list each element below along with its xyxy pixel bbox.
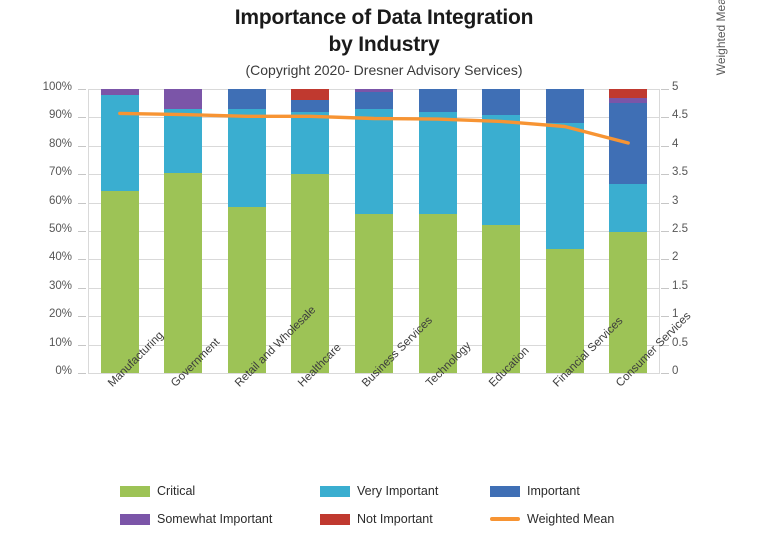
legend-item-very-important[interactable]: Very Important bbox=[320, 484, 490, 498]
legend-swatch-icon bbox=[490, 486, 520, 497]
bar-manufacturing[interactable] bbox=[101, 89, 139, 373]
y-axis-right-tick-label: 1.5 bbox=[672, 280, 712, 292]
y-axis-right-tick-mark bbox=[661, 373, 669, 374]
bar-segment-somewhat-important bbox=[355, 89, 393, 92]
bar-segment-critical bbox=[355, 214, 393, 373]
bar-segment-critical bbox=[291, 174, 329, 373]
legend-label: Important bbox=[527, 484, 580, 498]
bar-financial-services[interactable] bbox=[546, 89, 584, 373]
y-axis-right-tick-mark bbox=[661, 117, 669, 118]
y-axis-left-tick-label: 90% bbox=[26, 109, 72, 121]
y-axis-left-tick-mark bbox=[78, 316, 86, 317]
bar-segment-important bbox=[419, 89, 457, 112]
bar-segment-very-important bbox=[164, 109, 202, 173]
bar-retail-and-wholesale[interactable] bbox=[228, 89, 266, 373]
legend-label: Weighted Mean bbox=[527, 512, 614, 526]
y-axis-right-tick-mark bbox=[661, 288, 669, 289]
bar-segment-important bbox=[546, 89, 584, 123]
bar-segment-important bbox=[291, 100, 329, 111]
y-axis-left-tick-mark bbox=[78, 174, 86, 175]
bar-segment-very-important bbox=[355, 109, 393, 214]
title-block: Importance of Data Integration by Indust… bbox=[0, 4, 768, 80]
y-axis-right-tick-label: 4.5 bbox=[672, 109, 712, 121]
y-axis-right-tick-mark bbox=[661, 203, 669, 204]
bar-segment-very-important bbox=[101, 95, 139, 192]
legend-label: Not Important bbox=[357, 512, 433, 526]
y-axis-left-tick-label: 20% bbox=[26, 308, 72, 320]
y-axis-left-tick-label: 100% bbox=[26, 81, 72, 93]
y-axis-right-tick-label: 0 bbox=[672, 365, 712, 377]
y-axis-right-tick-mark bbox=[661, 259, 669, 260]
bar-segment-important bbox=[228, 89, 266, 109]
bar-education[interactable] bbox=[482, 89, 520, 373]
y-axis-right-tick-mark bbox=[661, 174, 669, 175]
bar-segment-critical bbox=[101, 191, 139, 373]
bar-government[interactable] bbox=[164, 89, 202, 373]
y-axis-left-tick-label: 40% bbox=[26, 251, 72, 263]
y-axis-left-tick-label: 10% bbox=[26, 337, 72, 349]
legend-label: Critical bbox=[157, 484, 195, 498]
y-axis-left-tick-mark bbox=[78, 288, 86, 289]
y-axis-left-tick-label: 80% bbox=[26, 138, 72, 150]
y-axis-right-tick-label: 0.5 bbox=[672, 337, 712, 349]
legend-swatch-icon bbox=[120, 486, 150, 497]
chart-legend: CriticalVery ImportantImportantSomewhat … bbox=[120, 484, 660, 526]
bar-segment-very-important bbox=[419, 112, 457, 214]
bar-segment-very-important bbox=[609, 184, 647, 232]
bar-segment-very-important bbox=[228, 109, 266, 207]
bar-segment-not-important bbox=[291, 89, 329, 100]
y-axis-right-tick-mark bbox=[661, 89, 669, 90]
bar-segment-very-important bbox=[291, 112, 329, 174]
y-axis-left-tick-label: 70% bbox=[26, 166, 72, 178]
y-axis-right-tick-label: 3 bbox=[672, 195, 712, 207]
bar-segment-critical bbox=[482, 225, 520, 373]
y-axis-left-tick-mark bbox=[78, 345, 86, 346]
y-axis-right-tick-mark bbox=[661, 231, 669, 232]
legend-item-critical[interactable]: Critical bbox=[120, 484, 320, 498]
y-axis-left-tick-mark bbox=[78, 373, 86, 374]
plot-area bbox=[88, 89, 660, 373]
bar-segment-somewhat-important bbox=[609, 98, 647, 104]
bar-business-services[interactable] bbox=[355, 89, 393, 373]
legend-swatch-icon bbox=[320, 486, 350, 497]
y-axis-right-tick-label: 3.5 bbox=[672, 166, 712, 178]
chart-title-line2: by Industry bbox=[0, 31, 768, 58]
y-axis-right-tick-label: 4 bbox=[672, 138, 712, 150]
y-axis-left-tick-mark bbox=[78, 117, 86, 118]
legend-swatch-icon bbox=[120, 514, 150, 525]
bar-segment-somewhat-important bbox=[101, 89, 139, 95]
bar-segment-important bbox=[355, 92, 393, 109]
legend-item-weighted-mean[interactable]: Weighted Mean bbox=[490, 512, 660, 526]
legend-label: Somewhat Important bbox=[157, 512, 272, 526]
legend-item-somewhat-important[interactable]: Somewhat Important bbox=[120, 512, 320, 526]
legend-line-icon bbox=[490, 517, 520, 521]
y-axis-left-tick-label: 60% bbox=[26, 195, 72, 207]
y-axis-left-tick-mark bbox=[78, 89, 86, 90]
y-axis-left-tick-label: 30% bbox=[26, 280, 72, 292]
y-axis-left-tick-mark bbox=[78, 259, 86, 260]
bar-segment-somewhat-important bbox=[164, 89, 202, 109]
bar-segment-not-important bbox=[609, 89, 647, 98]
y-axis-right-tick-mark bbox=[661, 316, 669, 317]
y-axis-left-tick-mark bbox=[78, 146, 86, 147]
bar-segment-critical bbox=[228, 207, 266, 373]
bar-segment-critical bbox=[419, 214, 457, 373]
y-axis-left-tick-mark bbox=[78, 231, 86, 232]
bar-segment-important bbox=[482, 89, 520, 115]
y-axis-right-tick-label: 2.5 bbox=[672, 223, 712, 235]
bar-segment-very-important bbox=[546, 123, 584, 249]
legend-swatch-icon bbox=[320, 514, 350, 525]
y-axis-left-tick-label: 0% bbox=[26, 365, 72, 377]
legend-item-important[interactable]: Important bbox=[490, 484, 660, 498]
bar-segment-important bbox=[609, 103, 647, 184]
bar-segment-very-important bbox=[482, 115, 520, 226]
y-axis-left-tick-mark bbox=[78, 203, 86, 204]
y-axis-right-tick-label: 5 bbox=[672, 81, 712, 93]
chart-title-line1: Importance of Data Integration bbox=[235, 6, 534, 29]
legend-item-not-important[interactable]: Not Important bbox=[320, 512, 490, 526]
legend-label: Very Important bbox=[357, 484, 438, 498]
y-axis-title-right: Weighted Mean of Importance bbox=[714, 0, 728, 120]
y-axis-right-tick-mark bbox=[661, 146, 669, 147]
chart-title: Importance of Data Integration by Indust… bbox=[0, 4, 768, 58]
bar-segment-critical bbox=[164, 173, 202, 373]
chart-container: Importance of Data Integration by Indust… bbox=[0, 0, 768, 547]
y-axis-right-tick-label: 2 bbox=[672, 251, 712, 263]
chart-subtitle: (Copyright 2020- Dresner Advisory Servic… bbox=[0, 60, 768, 80]
y-axis-left-tick-label: 50% bbox=[26, 223, 72, 235]
